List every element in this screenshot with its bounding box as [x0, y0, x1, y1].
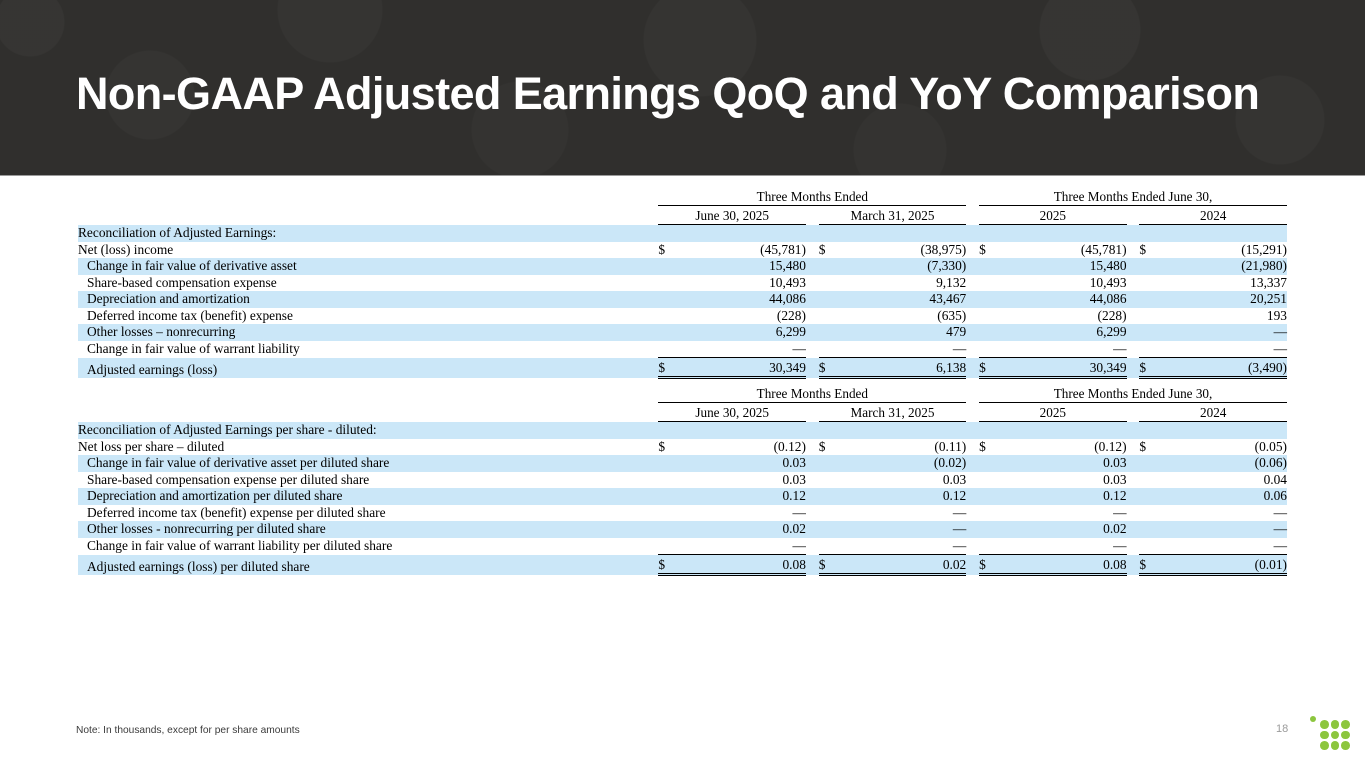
currency-cell [658, 521, 686, 538]
value-cell: — [1167, 521, 1287, 538]
cell-gap [966, 324, 979, 341]
group-gap [966, 188, 979, 206]
logo-dot [1331, 720, 1340, 729]
row-label: Share-based compensation expense [78, 275, 646, 292]
cell-gap [1127, 505, 1140, 522]
currency-cell [819, 505, 847, 522]
cell-gap [966, 258, 979, 275]
logo-dot [1320, 731, 1329, 740]
row-label: Change in fair value of warrant liabilit… [78, 538, 646, 555]
value-cell: (0.05) [1167, 439, 1287, 456]
logo-dot [1341, 741, 1350, 750]
currency-cell [819, 488, 847, 505]
row-label: Net loss per share – diluted [78, 439, 646, 456]
cell-gap [1127, 422, 1140, 439]
total-value-cell: 0.08 [686, 555, 806, 575]
value-cell: 15,480 [686, 258, 806, 275]
value-cell: 0.02 [1007, 521, 1127, 538]
cell-gap [806, 505, 819, 522]
currency-cell: $ [819, 439, 847, 456]
cell-gap [646, 555, 659, 575]
value-cell: (45,781) [1007, 242, 1127, 259]
cell-gap [966, 275, 979, 292]
total-label: Adjusted earnings (loss) [78, 358, 646, 378]
cell-gap [966, 422, 979, 439]
cell-gap [1127, 275, 1140, 292]
cell-gap [1127, 521, 1140, 538]
group-header-0: Three Months Ended [658, 188, 966, 206]
currency-cell [658, 505, 686, 522]
cell-gap [646, 439, 659, 456]
value-cell: 0.03 [686, 455, 806, 472]
page-number: 18 [1276, 723, 1288, 735]
value-cell: 15,480 [1007, 258, 1127, 275]
value-cell: — [1167, 324, 1287, 341]
cell-gap [966, 488, 979, 505]
cell-gap [646, 488, 659, 505]
currency-cell [658, 472, 686, 489]
group-header-row: Three Months EndedThree Months Ended Jun… [78, 385, 1287, 403]
total-label: Adjusted earnings (loss) per diluted sha… [78, 555, 646, 575]
header-divider [0, 175, 1365, 176]
table-row: Change in fair value of derivative asset… [78, 455, 1287, 472]
table1: Three Months EndedThree Months Ended Jun… [78, 188, 1287, 379]
value-cell: (0.06) [1167, 455, 1287, 472]
currency-cell [658, 422, 686, 439]
logo-dot [1331, 741, 1340, 750]
table-row: Other losses - nonrecurring per diluted … [78, 521, 1287, 538]
group-header-0: Three Months Ended [658, 385, 966, 403]
value-cell: — [686, 341, 806, 358]
currency-cell [819, 521, 847, 538]
value-cell: — [1167, 538, 1287, 555]
total-row: Adjusted earnings (loss)$30,349$6,138$30… [78, 358, 1287, 378]
currency-cell [658, 275, 686, 292]
total-currency-cell: $ [658, 555, 686, 575]
spacer-cell [78, 385, 646, 403]
value-cell: (38,975) [847, 242, 967, 259]
row-label: Share-based compensation expense per dil… [78, 472, 646, 489]
value-cell: 0.03 [686, 472, 806, 489]
value-cell: (0.12) [686, 439, 806, 456]
currency-cell: $ [1139, 439, 1167, 456]
logo-dot [1341, 720, 1350, 729]
col-gap [966, 403, 979, 422]
value-cell: (45,781) [686, 242, 806, 259]
group-gap [646, 188, 659, 206]
value-cell [1167, 225, 1287, 242]
currency-cell [1139, 488, 1167, 505]
table-row: Net loss per share – diluted$(0.12)$(0.1… [78, 439, 1287, 456]
value-cell: (635) [847, 308, 967, 325]
currency-cell [1139, 324, 1167, 341]
value-cell: — [847, 521, 967, 538]
cell-gap [646, 225, 659, 242]
cell-gap [1127, 308, 1140, 325]
value-cell: — [686, 538, 806, 555]
cell-gap [966, 472, 979, 489]
table-row: Other losses – nonrecurring6,2994796,299… [78, 324, 1287, 341]
row-label: Change in fair value of warrant liabilit… [78, 341, 646, 358]
currency-cell [819, 324, 847, 341]
footnote: Note: In thousands, except for per share… [76, 725, 300, 736]
cell-gap [1127, 439, 1140, 456]
cell-gap [966, 455, 979, 472]
column-header-0: June 30, 2025 [658, 206, 806, 225]
cell-gap [966, 521, 979, 538]
group-header-1: Three Months Ended June 30, [979, 188, 1287, 206]
row-label: Other losses – nonrecurring [78, 324, 646, 341]
cell-gap [1127, 258, 1140, 275]
currency-cell [658, 225, 686, 242]
cell-gap [1127, 455, 1140, 472]
currency-cell [1139, 505, 1167, 522]
value-cell: (7,330) [847, 258, 967, 275]
cell-gap [806, 555, 819, 575]
cell-gap [646, 324, 659, 341]
green-dot-grid-logo [1310, 714, 1350, 748]
currency-cell [979, 308, 1007, 325]
value-cell: 10,493 [1007, 275, 1127, 292]
currency-cell [979, 225, 1007, 242]
currency-cell [1139, 422, 1167, 439]
value-cell: 0.12 [686, 488, 806, 505]
value-cell: 44,086 [1007, 291, 1127, 308]
value-cell: (0.12) [1007, 439, 1127, 456]
currency-cell [1139, 455, 1167, 472]
value-cell: — [847, 505, 967, 522]
total-currency-cell: $ [658, 358, 686, 378]
cell-gap [966, 555, 979, 575]
value-cell: — [1007, 505, 1127, 522]
value-cell: (0.11) [847, 439, 967, 456]
currency-cell [819, 538, 847, 555]
cell-gap [646, 291, 659, 308]
column-header-row: June 30, 2025March 31, 202520252024 [78, 206, 1287, 225]
currency-cell [1139, 538, 1167, 555]
table-row: Change in fair value of warrant liabilit… [78, 341, 1287, 358]
cell-gap [806, 308, 819, 325]
currency-cell [979, 455, 1007, 472]
value-cell: 0.03 [847, 472, 967, 489]
group-gap [646, 385, 659, 403]
logo-accent-dot [1310, 716, 1316, 722]
group-header-row: Three Months EndedThree Months Ended Jun… [78, 188, 1287, 206]
cell-gap [646, 505, 659, 522]
cell-gap [1127, 225, 1140, 242]
currency-cell [658, 538, 686, 555]
value-cell: — [1167, 505, 1287, 522]
cell-gap [966, 358, 979, 378]
value-cell [686, 422, 806, 439]
cell-gap [1127, 488, 1140, 505]
row-label: Deferred income tax (benefit) expense pe… [78, 505, 646, 522]
col-gap [806, 403, 819, 422]
col-gap [646, 403, 659, 422]
currency-cell [979, 324, 1007, 341]
table-row: Deferred income tax (benefit) expense(22… [78, 308, 1287, 325]
currency-cell [658, 488, 686, 505]
cell-gap [646, 521, 659, 538]
cell-gap [806, 258, 819, 275]
table-row: Net (loss) income$(45,781)$(38,975)$(45,… [78, 242, 1287, 259]
value-cell: — [1167, 341, 1287, 358]
row-label: Net (loss) income [78, 242, 646, 259]
section-title-row: Reconciliation of Adjusted Earnings per … [78, 422, 1287, 439]
cell-gap [806, 225, 819, 242]
cell-gap [806, 242, 819, 259]
value-cell: (21,980) [1167, 258, 1287, 275]
cell-gap [966, 308, 979, 325]
cell-gap [806, 358, 819, 378]
cell-gap [806, 341, 819, 358]
currency-cell [819, 455, 847, 472]
cell-gap [806, 538, 819, 555]
value-cell: (15,291) [1167, 242, 1287, 259]
group-gap [966, 385, 979, 403]
cell-gap [1127, 341, 1140, 358]
cell-gap [806, 521, 819, 538]
value-cell: — [847, 538, 967, 555]
currency-cell [819, 341, 847, 358]
spacer-cell [78, 188, 646, 206]
cell-gap [646, 472, 659, 489]
value-cell: — [1007, 538, 1127, 555]
value-cell: 0.12 [1007, 488, 1127, 505]
logo-dot [1320, 720, 1329, 729]
column-header-0: June 30, 2025 [658, 403, 806, 422]
currency-cell: $ [819, 242, 847, 259]
value-cell: 479 [847, 324, 967, 341]
currency-cell [658, 291, 686, 308]
currency-cell: $ [979, 242, 1007, 259]
column-header-1: March 31, 2025 [819, 206, 967, 225]
currency-cell: $ [979, 439, 1007, 456]
cell-gap [1127, 472, 1140, 489]
total-currency-cell: $ [1139, 358, 1167, 378]
column-header-row: June 30, 2025March 31, 202520252024 [78, 403, 1287, 422]
currency-cell [819, 258, 847, 275]
value-cell: 0.12 [847, 488, 967, 505]
currency-cell [979, 505, 1007, 522]
currency-cell [819, 422, 847, 439]
cell-gap [966, 341, 979, 358]
col-gap [1127, 403, 1140, 422]
currency-cell [1139, 472, 1167, 489]
currency-cell [1139, 291, 1167, 308]
currency-cell [1139, 275, 1167, 292]
value-cell [1007, 225, 1127, 242]
cell-gap [1127, 538, 1140, 555]
total-value-cell: 30,349 [1007, 358, 1127, 378]
column-header-3: 2024 [1139, 403, 1287, 422]
section-title-row: Reconciliation of Adjusted Earnings: [78, 225, 1287, 242]
cell-gap [1127, 291, 1140, 308]
currency-cell [658, 324, 686, 341]
total-value-cell: 6,138 [847, 358, 967, 378]
column-header-2: 2025 [979, 206, 1127, 225]
currency-cell [979, 521, 1007, 538]
row-label: Change in fair value of derivative asset… [78, 455, 646, 472]
currency-cell [979, 488, 1007, 505]
value-cell: 0.03 [1007, 455, 1127, 472]
currency-cell [1139, 225, 1167, 242]
logo-dot [1331, 731, 1340, 740]
cell-gap [646, 422, 659, 439]
currency-cell [979, 291, 1007, 308]
value-cell: 10,493 [686, 275, 806, 292]
cell-gap [806, 275, 819, 292]
logo-dot [1341, 731, 1350, 740]
table-row: Depreciation and amortization per dilute… [78, 488, 1287, 505]
cell-gap [806, 488, 819, 505]
cell-gap [646, 341, 659, 358]
table-row: Depreciation and amortization44,08643,46… [78, 291, 1287, 308]
cell-gap [966, 505, 979, 522]
value-cell: — [1007, 341, 1127, 358]
value-cell [1167, 422, 1287, 439]
currency-cell [1139, 308, 1167, 325]
row-label: Depreciation and amortization [78, 291, 646, 308]
section-title: Reconciliation of Adjusted Earnings: [78, 225, 646, 242]
value-cell: 0.02 [686, 521, 806, 538]
cell-gap [966, 439, 979, 456]
cell-gap [806, 439, 819, 456]
value-cell: 6,299 [686, 324, 806, 341]
value-cell: 13,337 [1167, 275, 1287, 292]
cell-gap [806, 422, 819, 439]
spacer-cell [78, 403, 646, 422]
table-row: Deferred income tax (benefit) expense pe… [78, 505, 1287, 522]
section-title: Reconciliation of Adjusted Earnings per … [78, 422, 646, 439]
currency-cell [819, 225, 847, 242]
currency-cell: $ [658, 242, 686, 259]
col-gap [646, 206, 659, 225]
cell-gap [1127, 242, 1140, 259]
cell-gap [966, 225, 979, 242]
value-cell: (228) [1007, 308, 1127, 325]
value-cell: (0.02) [847, 455, 967, 472]
currency-cell [819, 308, 847, 325]
cell-gap [806, 291, 819, 308]
value-cell: 9,132 [847, 275, 967, 292]
currency-cell [658, 258, 686, 275]
currency-cell [979, 472, 1007, 489]
total-value-cell: (3,490) [1167, 358, 1287, 378]
value-cell [686, 225, 806, 242]
col-gap [966, 206, 979, 225]
total-currency-cell: $ [1139, 555, 1167, 575]
value-cell: — [686, 505, 806, 522]
value-cell: 193 [1167, 308, 1287, 325]
currency-cell [1139, 521, 1167, 538]
cell-gap [966, 291, 979, 308]
column-header-3: 2024 [1139, 206, 1287, 225]
table2: Three Months EndedThree Months Ended Jun… [78, 385, 1287, 576]
currency-cell [979, 275, 1007, 292]
value-cell: 6,299 [1007, 324, 1127, 341]
total-value-cell: 30,349 [686, 358, 806, 378]
cell-gap [646, 455, 659, 472]
cell-gap [1127, 324, 1140, 341]
value-cell: 44,086 [686, 291, 806, 308]
value-cell: — [847, 341, 967, 358]
value-cell: 0.06 [1167, 488, 1287, 505]
currency-cell [979, 422, 1007, 439]
value-cell: 20,251 [1167, 291, 1287, 308]
logo-dot [1320, 741, 1329, 750]
value-cell [847, 422, 967, 439]
currency-cell [819, 275, 847, 292]
row-label: Depreciation and amortization per dilute… [78, 488, 646, 505]
row-label: Change in fair value of derivative asset [78, 258, 646, 275]
currency-cell [819, 472, 847, 489]
table-row: Change in fair value of warrant liabilit… [78, 538, 1287, 555]
cell-gap [646, 538, 659, 555]
cell-gap [646, 275, 659, 292]
total-currency-cell: $ [819, 555, 847, 575]
cell-gap [646, 242, 659, 259]
col-gap [1127, 206, 1140, 225]
row-label: Other losses - nonrecurring per diluted … [78, 521, 646, 538]
row-label: Deferred income tax (benefit) expense [78, 308, 646, 325]
col-gap [806, 206, 819, 225]
currency-cell [658, 341, 686, 358]
cell-gap [1127, 555, 1140, 575]
cell-gap [646, 258, 659, 275]
cell-gap [646, 358, 659, 378]
table-row: Change in fair value of derivative asset… [78, 258, 1287, 275]
spacer-cell [78, 206, 646, 225]
total-value-cell: 0.02 [847, 555, 967, 575]
cell-gap [806, 472, 819, 489]
currency-cell [1139, 258, 1167, 275]
group-header-1: Three Months Ended June 30, [979, 385, 1287, 403]
total-currency-cell: $ [979, 358, 1007, 378]
cell-gap [806, 455, 819, 472]
currency-cell [658, 455, 686, 472]
cell-gap [1127, 358, 1140, 378]
adjusted-earnings-table-wrapper: Three Months EndedThree Months Ended Jun… [78, 188, 1287, 379]
currency-cell [979, 258, 1007, 275]
value-cell: 0.03 [1007, 472, 1127, 489]
table-row: Share-based compensation expense10,4939,… [78, 275, 1287, 292]
cell-gap [966, 538, 979, 555]
cell-gap [966, 242, 979, 259]
adjusted-eps-table-wrapper: Three Months EndedThree Months Ended Jun… [78, 385, 1287, 576]
value-cell: 0.04 [1167, 472, 1287, 489]
value-cell: 43,467 [847, 291, 967, 308]
cell-gap [806, 324, 819, 341]
total-currency-cell: $ [819, 358, 847, 378]
total-currency-cell: $ [979, 555, 1007, 575]
total-row: Adjusted earnings (loss) per diluted sha… [78, 555, 1287, 575]
value-cell: (228) [686, 308, 806, 325]
page-title: Non-GAAP Adjusted Earnings QoQ and YoY C… [76, 68, 1259, 120]
column-header-2: 2025 [979, 403, 1127, 422]
total-value-cell: 0.08 [1007, 555, 1127, 575]
currency-cell [1139, 341, 1167, 358]
total-value-cell: (0.01) [1167, 555, 1287, 575]
currency-cell [819, 291, 847, 308]
table-row: Share-based compensation expense per dil… [78, 472, 1287, 489]
value-cell [847, 225, 967, 242]
currency-cell: $ [658, 439, 686, 456]
column-header-1: March 31, 2025 [819, 403, 967, 422]
cell-gap [646, 308, 659, 325]
currency-cell [979, 538, 1007, 555]
currency-cell [658, 308, 686, 325]
